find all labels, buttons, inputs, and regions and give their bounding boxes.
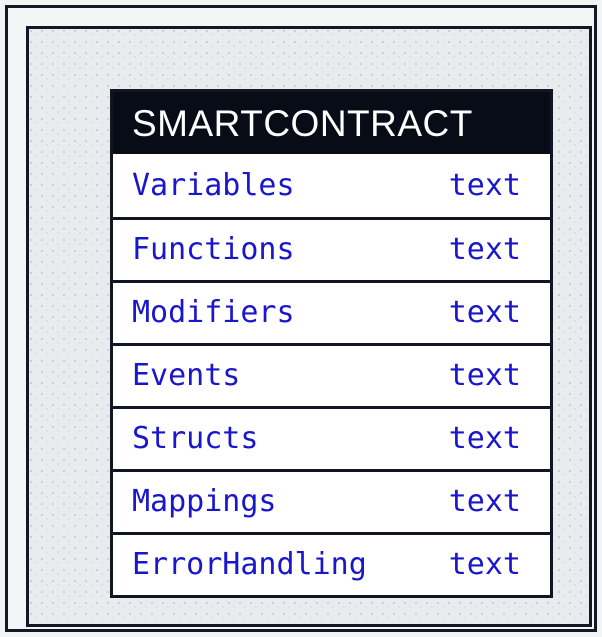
attribute-name: Functions [132,235,295,265]
entity-smartcontract[interactable]: SMARTCONTRACT Variables text Functions t… [110,89,553,598]
inner-frame-border: SMARTCONTRACT Variables text Functions t… [26,26,592,627]
entity-header: SMARTCONTRACT [113,92,550,154]
attribute-type: text [449,424,521,454]
entity-attribute-list: Variables text Functions text Modifiers … [113,154,550,595]
attribute-name: Variables [132,171,295,201]
table-row[interactable]: Structs text [113,406,550,469]
table-row[interactable]: Variables text [113,154,550,217]
attribute-type: text [449,171,521,201]
attribute-name: ErrorHandling [132,550,367,580]
attribute-type: text [449,298,521,328]
attribute-type: text [449,235,521,265]
diagram-canvas: SMARTCONTRACT Variables text Functions t… [0,0,602,637]
table-row[interactable]: ErrorHandling text [113,532,550,595]
outer-frame-border: SMARTCONTRACT Variables text Functions t… [5,5,597,632]
attribute-name: Mappings [132,487,277,517]
attribute-type: text [449,361,521,391]
attribute-type: text [449,550,521,580]
entity-title: SMARTCONTRACT [132,105,473,142]
attribute-name: Structs [132,424,258,454]
attribute-name: Events [132,361,240,391]
table-row[interactable]: Modifiers text [113,280,550,343]
table-row[interactable]: Events text [113,343,550,406]
table-row[interactable]: Functions text [113,217,550,280]
attribute-type: text [449,487,521,517]
attribute-name: Modifiers [132,298,295,328]
table-row[interactable]: Mappings text [113,469,550,532]
